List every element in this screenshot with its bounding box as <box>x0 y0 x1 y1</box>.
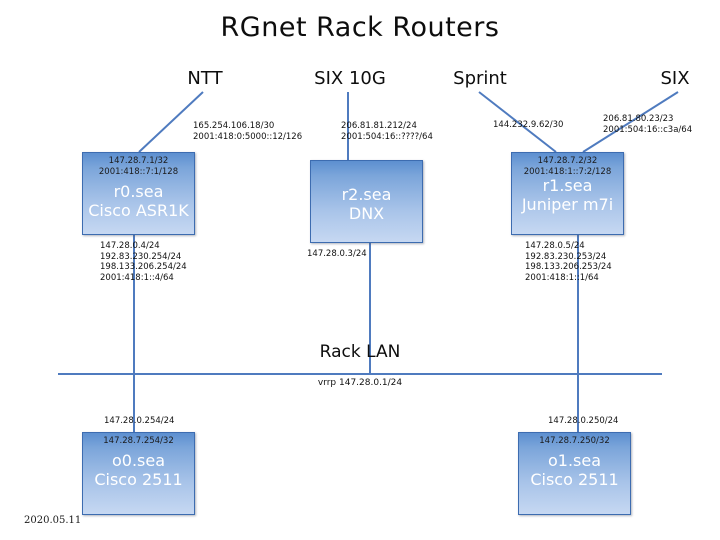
lan-o1-line1: 147.28.0.250/24 <box>548 416 618 427</box>
uplink-six10g-ipv6: 2001:504:16::????/64 <box>341 132 433 143</box>
uplink-sprint-ipv4: 144.232.9.62/30 <box>493 120 563 131</box>
node-o1-loopback-v4: 147.28.7.250/32 <box>539 436 609 447</box>
node-r2-model: DNX <box>349 205 384 224</box>
rack-lan-vrrp: vrrp 147.28.0.1/24 <box>0 378 720 388</box>
node-o0-loopbacks: 147.28.7.254/32 <box>103 436 173 447</box>
datestamp: 2020.05.11 <box>24 515 81 526</box>
node-r1-model: Juniper m7i <box>522 196 613 215</box>
peer-label-sprint: Sprint <box>436 68 524 89</box>
uplink-six10g-ipv4: 206.81.81.212/24 <box>341 121 433 132</box>
node-r1[interactable]: 147.28.7.2/32 2001:418:1::7:2/128 r1.sea… <box>511 152 624 235</box>
uplink-six-ipv4: 206.81.80.23/23 <box>603 114 692 125</box>
node-o0-hostname: o0.sea <box>112 452 165 471</box>
uplink-ntt-ipv6: 2001:418:0:5000::12/126 <box>193 132 302 143</box>
lan-o0-line1: 147.28.0.254/24 <box>104 416 174 427</box>
node-r1-loopbacks: 147.28.7.2/32 2001:418:1::7:2/128 <box>524 156 612 177</box>
node-r0-loopback-v4: 147.28.7.1/32 <box>99 156 178 167</box>
lan-r1-line3: 198.133.206.253/24 <box>525 262 612 273</box>
node-r1-hostname: r1.sea <box>543 177 593 196</box>
node-r0-model: Cisco ASR1K <box>88 202 189 221</box>
peer-label-ntt: NTT <box>170 68 240 89</box>
uplink-label-ntt: 165.254.106.18/30 2001:418:0:5000::12/12… <box>193 121 302 142</box>
lan-label-o1: 147.28.0.250/24 <box>548 416 618 427</box>
node-r0-loopbacks: 147.28.7.1/32 2001:418::7:1/128 <box>99 156 178 177</box>
peer-label-six: SIX <box>645 68 705 89</box>
peer-label-six10g: SIX 10G <box>305 68 395 89</box>
lan-r2-line1: 147.28.0.3/24 <box>307 249 367 260</box>
lan-r0-line1: 147.28.0.4/24 <box>100 241 187 252</box>
lan-label-r2: 147.28.0.3/24 <box>307 249 367 260</box>
uplink-six-ipv6: 2001:504:16::c3a/64 <box>603 125 692 136</box>
lan-r1-line4: 2001:418:1::1/64 <box>525 273 612 284</box>
node-r1-loopback-v4: 147.28.7.2/32 <box>524 156 612 167</box>
lan-label-r1: 147.28.0.5/24 192.83.230.253/24 198.133.… <box>525 241 612 284</box>
page-title: RGnet Rack Routers <box>0 12 720 43</box>
node-o0-loopback-v4: 147.28.7.254/32 <box>103 436 173 447</box>
node-o0-model: Cisco 2511 <box>94 471 182 490</box>
uplink-label-sprint: 144.232.9.62/30 <box>493 120 563 131</box>
lan-r1-line1: 147.28.0.5/24 <box>525 241 612 252</box>
lan-label-r0: 147.28.0.4/24 192.83.230.254/24 198.133.… <box>100 241 187 284</box>
uplink-label-six10g: 206.81.81.212/24 2001:504:16::????/64 <box>341 121 433 142</box>
lan-label-o0: 147.28.0.254/24 <box>104 416 174 427</box>
node-o0[interactable]: 147.28.7.254/32 o0.sea Cisco 2511 <box>82 432 195 515</box>
node-o1[interactable]: 147.28.7.250/32 o1.sea Cisco 2511 <box>518 432 631 515</box>
node-r2[interactable]: r2.sea DNX <box>310 160 423 243</box>
node-o1-hostname: o1.sea <box>548 452 601 471</box>
node-r2-hostname: r2.sea <box>342 186 392 205</box>
lan-r0-line3: 198.133.206.254/24 <box>100 262 187 273</box>
node-o1-model: Cisco 2511 <box>530 471 618 490</box>
lan-r0-line4: 2001:418:1::4/64 <box>100 273 187 284</box>
node-o1-loopbacks: 147.28.7.250/32 <box>539 436 609 447</box>
node-r0-hostname: r0.sea <box>114 183 164 202</box>
uplink-ntt-ipv4: 165.254.106.18/30 <box>193 121 302 132</box>
node-r0-loopback-v6: 2001:418::7:1/128 <box>99 167 178 178</box>
lan-r1-line2: 192.83.230.253/24 <box>525 252 612 263</box>
rack-lan-title: Rack LAN <box>0 342 720 362</box>
diagram-canvas: RGnet Rack Routers NTT SIX 10G Sprint SI… <box>0 0 720 540</box>
lan-r0-line2: 192.83.230.254/24 <box>100 252 187 263</box>
node-r0[interactable]: 147.28.7.1/32 2001:418::7:1/128 r0.sea C… <box>82 152 195 235</box>
uplink-label-six: 206.81.80.23/23 2001:504:16::c3a/64 <box>603 114 692 135</box>
